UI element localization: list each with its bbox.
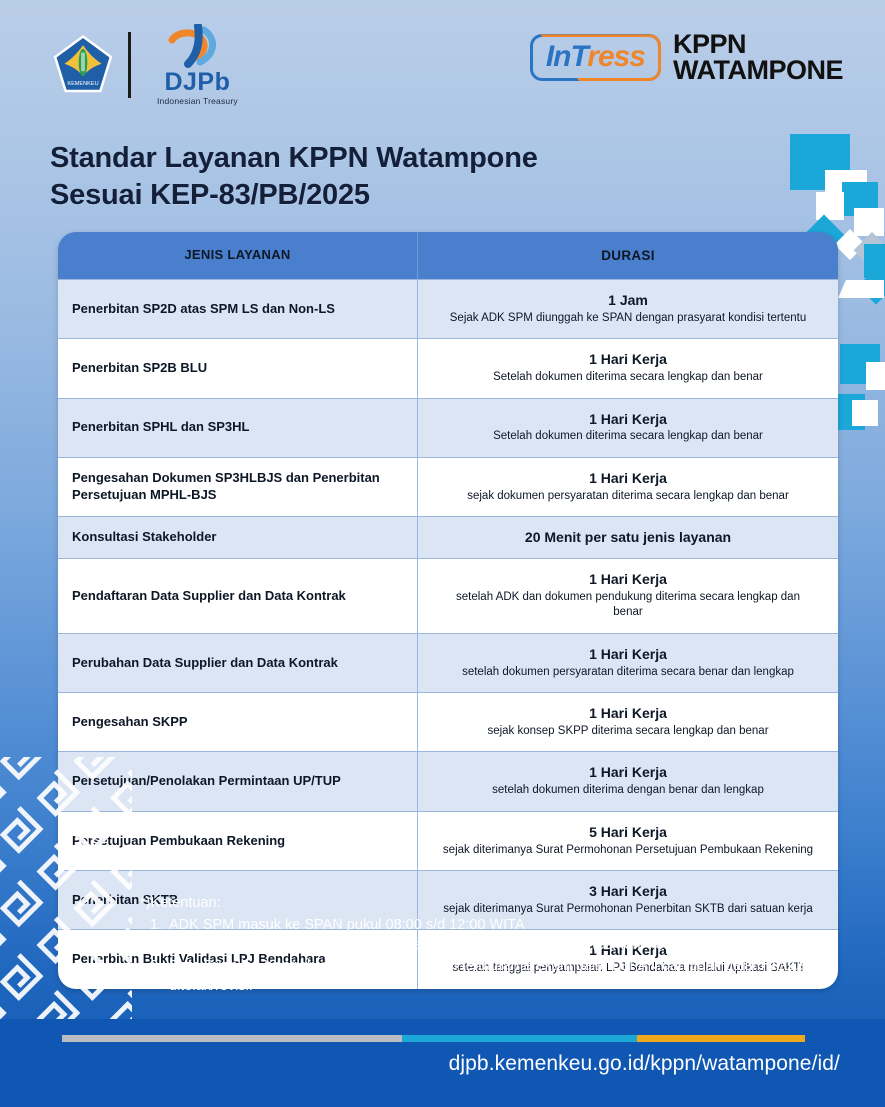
poster-canvas: KEMENKEU DJPb Indonesian Treasury InTres…: [0, 0, 885, 1107]
duration-note: setelah dokumen persyaratan diterima sec…: [452, 665, 804, 681]
notes-section: *)Ketentuan: ADK SPM masuk ke SPAN pukul…: [140, 893, 840, 997]
notes-title: *)Ketentuan:: [140, 893, 840, 914]
duration-note: sejak diterimanya Surat Permohonan Perse…: [433, 843, 823, 859]
duration-note: Sejak ADK SPM diunggah ke SPAN dengan pr…: [440, 311, 817, 327]
cell-duration: 1 Hari Kerjasejak dokumen persyaratan di…: [418, 458, 838, 516]
table-body: Penerbitan SP2D atas SPM LS dan Non-LS1 …: [58, 280, 838, 989]
duration-note: sejak dokumen persyaratan diterima secar…: [457, 489, 799, 505]
notes-list: ADK SPM masuk ke SPAN pukul 08:00 s/d 12…: [140, 915, 840, 997]
duration-main: 1 Hari Kerja: [589, 705, 667, 722]
cell-service-name: Persetujuan Pembukaan Rekening: [58, 812, 418, 870]
intress-text-part1: InT: [546, 40, 587, 73]
cell-service-name: Penerbitan SP2B BLU: [58, 339, 418, 397]
duration-note: Setelah dokumen diterima secara lengkap …: [483, 370, 773, 386]
table-row: Pengesahan SKPP1 Hari Kerjasejak konsep …: [58, 693, 838, 752]
column-header-duration: DURASI: [418, 232, 838, 279]
duration-note: sejak konsep SKPP diterima secara lengka…: [477, 724, 778, 740]
column-header-service: JENIS LAYANAN: [58, 232, 418, 279]
table-row: Pengesahan Dokumen SP3HLBJS dan Penerbit…: [58, 458, 838, 517]
poster-footer: djpb.kemenkeu.go.id/kppn/watampone/id/: [0, 1019, 885, 1107]
page-title-line-2: Sesuai KEP-83/PB/2025: [50, 177, 538, 214]
djpb-wordmark: DJPb: [157, 70, 238, 95]
intress-badge: InTress: [530, 34, 661, 81]
kppn-line-2: WATAMPONE: [673, 58, 843, 84]
footer-bar-orange: [637, 1035, 805, 1042]
table-row: Penerbitan SP2D atas SPM LS dan Non-LS1 …: [58, 280, 838, 339]
footer-website-url[interactable]: djpb.kemenkeu.go.id/kppn/watampone/id/: [449, 1052, 840, 1076]
intress-text-part2: re: [587, 40, 613, 73]
table-row: Pendaftaran Data Supplier dan Data Kontr…: [58, 559, 838, 634]
intress-text-part3: ss: [614, 40, 645, 73]
duration-main: 5 Hari Kerja: [589, 824, 667, 841]
page-title: Standar Layanan KPPN Watampone Sesuai KE…: [50, 140, 538, 214]
table-row: Konsultasi Stakeholder20 Menit per satu …: [58, 517, 838, 559]
cell-service-name: Penerbitan SP2D atas SPM LS dan Non-LS: [58, 280, 418, 338]
cell-service-name: Pendaftaran Data Supplier dan Data Kontr…: [58, 559, 418, 633]
duration-main: 1 Hari Kerja: [589, 571, 667, 588]
duration-main: 1 Hari Kerja: [589, 411, 667, 428]
cell-duration: 5 Hari Kerjasejak diterimanya Surat Perm…: [418, 812, 838, 870]
footer-bar-cyan: [402, 1035, 637, 1042]
note-item: Data Supplier, Kontrak, dan data RPO sud…: [166, 956, 840, 997]
cell-service-name: Penerbitan SPHL dan SP3HL: [58, 399, 418, 457]
duration-main: 1 Hari Kerja: [589, 470, 667, 487]
djpb-swoosh-icon: [164, 24, 230, 68]
duration-note: Setelah dokumen diterima secara lengkap …: [483, 429, 773, 445]
duration-note: setelah dokumen diterima dengan benar da…: [482, 783, 774, 799]
cell-duration: 1 JamSejak ADK SPM diunggah ke SPAN deng…: [418, 280, 838, 338]
cell-service-name: Pengesahan Dokumen SP3HLBJS dan Penerbit…: [58, 458, 418, 516]
table-row: Penerbitan SP2B BLU1 Hari KerjaSetelah d…: [58, 339, 838, 398]
kemenkeu-emblem-icon: KEMENKEU: [52, 34, 114, 96]
intress-kppn-logo-group: InTress KPPN WATAMPONE: [530, 32, 843, 84]
duration-main: 1 Hari Kerja: [589, 646, 667, 663]
duration-note: setelah ADK dan dokumen pendukung diteri…: [432, 590, 824, 621]
table-row: Perubahan Data Supplier dan Data Kontrak…: [58, 634, 838, 693]
svg-text:KEMENKEU: KEMENKEU: [67, 81, 98, 87]
cell-duration: 1 Hari Kerjasetelah ADK dan dokumen pend…: [418, 559, 838, 633]
cell-service-name: Persetujuan/Penolakan Permintaan UP/TUP: [58, 752, 418, 810]
table-header-row: JENIS LAYANAN DURASI: [58, 232, 838, 280]
djpb-logo-group: KEMENKEU DJPb Indonesian Treasury: [52, 24, 238, 106]
duration-main: 1 Jam: [608, 292, 648, 309]
cell-service-name: Pengesahan SKPP: [58, 693, 418, 751]
cell-duration: 1 Hari Kerjasetelah dokumen persyaratan …: [418, 634, 838, 692]
poster-header: KEMENKEU DJPb Indonesian Treasury InTres…: [0, 0, 885, 122]
footer-accent-bars: [62, 1035, 885, 1042]
service-standards-table: JENIS LAYANAN DURASI Penerbitan SP2D ata…: [58, 232, 838, 989]
cell-service-name: Perubahan Data Supplier dan Data Kontrak: [58, 634, 418, 692]
cell-service-name: Konsultasi Stakeholder: [58, 517, 418, 558]
logo-divider: [128, 32, 131, 98]
page-title-line-1: Standar Layanan KPPN Watampone: [50, 140, 538, 177]
duration-main: 20 Menit per satu jenis layanan: [525, 529, 731, 546]
kppn-watampone-wordmark: KPPN WATAMPONE: [673, 32, 843, 84]
cell-duration: 20 Menit per satu jenis layanan: [418, 517, 838, 558]
cell-duration: 1 Hari KerjaSetelah dokumen diterima sec…: [418, 339, 838, 397]
duration-main: 1 Hari Kerja: [589, 351, 667, 368]
djpb-tagline: Indonesian Treasury: [157, 96, 238, 106]
table-row: Persetujuan Pembukaan Rekening5 Hari Ker…: [58, 812, 838, 871]
footer-bar-gray: [62, 1035, 402, 1042]
cell-duration: 1 Hari Kerjasejak konsep SKPP diterima s…: [418, 693, 838, 751]
table-row: Penerbitan SPHL dan SP3HL1 Hari KerjaSet…: [58, 399, 838, 458]
duration-main: 1 Hari Kerja: [589, 764, 667, 781]
table-row: Persetujuan/Penolakan Permintaan UP/TUP1…: [58, 752, 838, 811]
cell-duration: 1 Hari Kerjasetelah dokumen diterima den…: [418, 752, 838, 810]
cell-duration: 1 Hari KerjaSetelah dokumen diterima sec…: [418, 399, 838, 457]
djpb-logo: DJPb Indonesian Treasury: [157, 24, 238, 106]
note-item: Batas ini tidak berlaku saat beban peker…: [166, 935, 840, 956]
note-item: ADK SPM masuk ke SPAN pukul 08:00 s/d 12…: [166, 915, 840, 936]
